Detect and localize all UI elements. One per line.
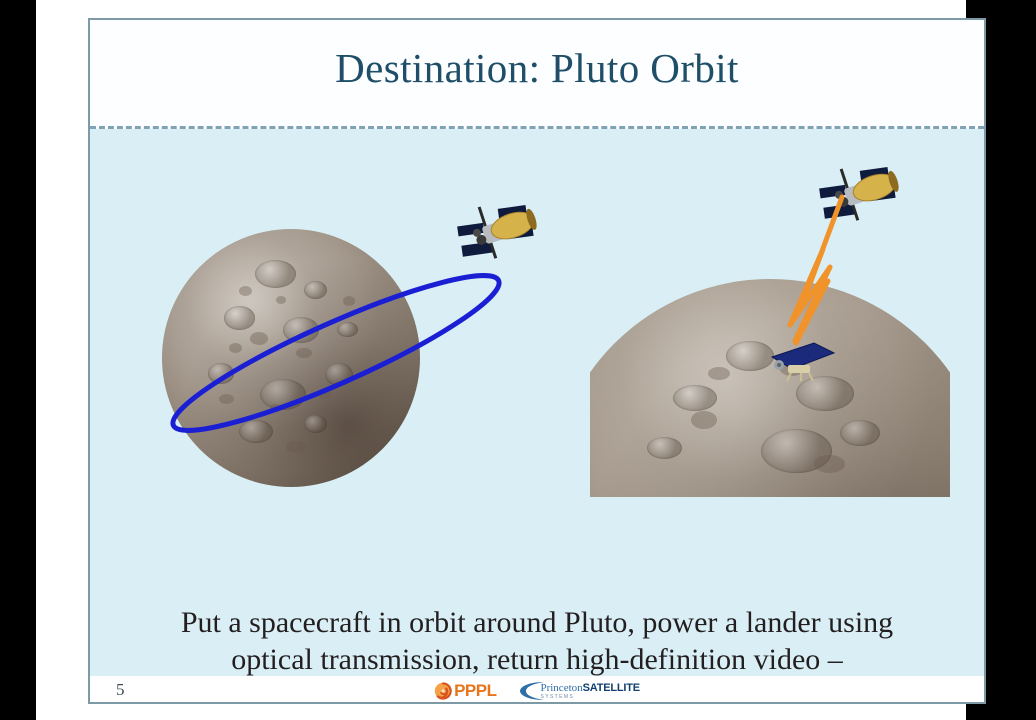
pppl-swirl-icon	[434, 682, 452, 700]
pluto-limb-sphere	[590, 279, 950, 497]
lander-icon	[768, 337, 838, 383]
slide-body: Put a spacecraft in orbit around Pluto, …	[90, 129, 984, 676]
slide-footer: 5 PPPL	[90, 676, 984, 704]
pluto-limb-clip	[590, 279, 950, 497]
pss-name-light: Princeton	[540, 682, 582, 694]
relay-spacecraft-icon	[810, 157, 906, 233]
princeton-satellite-systems-logo: PrincetonSATELLITE SYSTEMS	[518, 680, 639, 702]
pluto-sphere	[162, 229, 420, 487]
lander-power-illustration	[580, 157, 960, 517]
pppl-logo: PPPL	[434, 681, 496, 701]
page-title: Destination: Pluto Orbit	[90, 44, 984, 92]
pppl-logo-text: PPPL	[454, 681, 496, 701]
caption-line-1: Put a spacecraft in orbit around Pluto, …	[90, 604, 984, 641]
slide-header: Destination: Pluto Orbit	[90, 20, 984, 126]
caption-line-2: optical transmission, return high-defini…	[90, 641, 984, 678]
pluto-orbit-illustration	[140, 189, 560, 539]
pss-logo-text: PrincetonSATELLITE SYSTEMS	[540, 683, 639, 700]
pss-name-bold: SATELLITE	[583, 682, 640, 694]
slide-page-background: Destination: Pluto Orbit	[36, 0, 966, 720]
orbiting-spacecraft-icon	[448, 195, 544, 271]
footer-logos: PPPL PrincetonSATELLITE SYSTEMS	[90, 676, 984, 704]
pss-subtitle: SYSTEMS	[540, 695, 639, 700]
screenshot-stage: Destination: Pluto Orbit	[0, 0, 1036, 720]
presentation-slide: Destination: Pluto Orbit	[88, 18, 986, 704]
pss-wordmark: PrincetonSATELLITE	[540, 683, 639, 694]
